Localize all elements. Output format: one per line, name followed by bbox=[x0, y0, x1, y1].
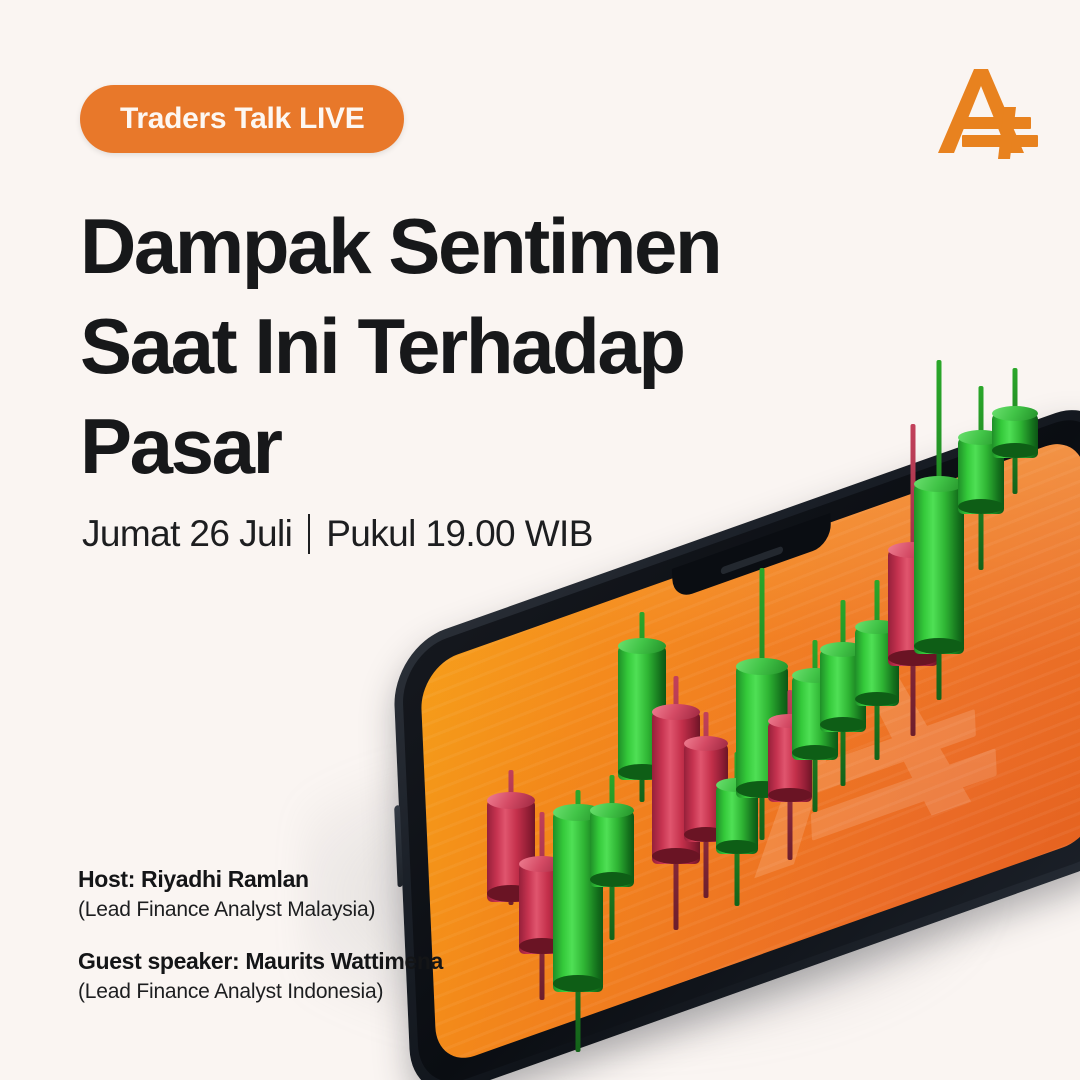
candle-cap bbox=[553, 804, 603, 821]
headline-line-2: Saat Ini Terhadap bbox=[80, 296, 800, 396]
candle-cap bbox=[792, 668, 838, 683]
candle-foot bbox=[716, 840, 758, 854]
live-badge[interactable]: Traders Talk LIVE bbox=[80, 85, 404, 153]
candle-foot bbox=[820, 717, 866, 732]
candle-wick bbox=[979, 386, 984, 570]
candle-wick bbox=[640, 612, 645, 802]
candle-cap bbox=[992, 406, 1038, 421]
candle-cap bbox=[888, 542, 938, 558]
event-date: Jumat 26 Juli bbox=[82, 513, 292, 555]
candle-foot bbox=[684, 827, 728, 842]
page-title: Dampak Sentimen Saat Ini Terhadap Pasar bbox=[80, 196, 800, 496]
candle-foot bbox=[768, 788, 812, 802]
candle-wick bbox=[704, 712, 709, 898]
candle-body bbox=[684, 744, 728, 842]
candle-body bbox=[888, 550, 938, 666]
headline-line-3: Pasar bbox=[80, 396, 800, 496]
candle-cap bbox=[736, 658, 788, 675]
candle-body bbox=[992, 414, 1038, 458]
candle-body bbox=[958, 438, 1004, 514]
candle-5 bbox=[618, 612, 666, 802]
candle-cap bbox=[652, 704, 700, 720]
candle-cap bbox=[855, 620, 899, 634]
candle-cap bbox=[684, 736, 728, 751]
candle-cap bbox=[618, 638, 666, 654]
candle-foot bbox=[914, 638, 964, 654]
candle-wick bbox=[875, 580, 880, 760]
speaker-credits: Host: Riyadhi Ramlan (Lead Finance Analy… bbox=[78, 866, 443, 1030]
candle-9 bbox=[736, 568, 788, 840]
candle-body bbox=[914, 484, 964, 654]
candle-13 bbox=[855, 580, 899, 760]
credit-guest: Guest speaker: Maurits Wattimena (Lead F… bbox=[78, 948, 443, 1004]
credit-host: Host: Riyadhi Ramlan (Lead Finance Analy… bbox=[78, 866, 443, 922]
candle-cap bbox=[590, 803, 634, 818]
candle-wick bbox=[841, 600, 846, 786]
candle-6 bbox=[652, 676, 700, 930]
candle-foot bbox=[553, 975, 603, 992]
candle-body bbox=[820, 650, 866, 732]
candle-wick bbox=[674, 676, 679, 930]
candle-wick bbox=[735, 752, 740, 906]
candle-foot bbox=[487, 885, 535, 902]
phone-notch bbox=[672, 513, 832, 600]
candle-body bbox=[792, 676, 838, 760]
candle-foot bbox=[590, 872, 634, 887]
poster-canvas: Traders Talk LIVE Dampak Sentimen Saat I… bbox=[0, 0, 1080, 1080]
candle-body bbox=[736, 666, 788, 798]
candle-1 bbox=[487, 770, 535, 905]
candle-17 bbox=[992, 368, 1038, 494]
candle-wick bbox=[788, 690, 793, 860]
phone-speaker bbox=[721, 546, 784, 575]
candle-wick bbox=[576, 790, 581, 1052]
candle-2 bbox=[519, 812, 565, 1000]
candle-3 bbox=[553, 790, 603, 1052]
candle-foot bbox=[888, 650, 938, 666]
candle-wick bbox=[937, 360, 942, 700]
event-time: Pukul 19.00 WIB bbox=[326, 513, 593, 555]
phone-bezel bbox=[401, 407, 1080, 1080]
candle-8 bbox=[716, 752, 758, 906]
candle-body bbox=[519, 864, 565, 954]
candle-wick bbox=[813, 640, 818, 812]
candle-body bbox=[652, 712, 700, 864]
candle-foot bbox=[736, 781, 788, 798]
candle-body bbox=[590, 811, 634, 887]
candle-body bbox=[553, 812, 603, 992]
credit-host-role: (Lead Finance Analyst Malaysia) bbox=[78, 898, 443, 922]
candle-16 bbox=[958, 386, 1004, 570]
candle-cap bbox=[487, 792, 535, 809]
smartphone-device bbox=[392, 394, 1080, 1080]
candle-foot bbox=[652, 848, 700, 864]
candle-14 bbox=[888, 424, 938, 736]
event-datetime: Jumat 26 Juli Pukul 19.00 WIB bbox=[82, 513, 593, 555]
candle-cap bbox=[768, 714, 812, 728]
candle-cap bbox=[958, 430, 1004, 445]
candle-15 bbox=[914, 360, 964, 700]
datetime-separator bbox=[308, 514, 310, 554]
candle-body bbox=[768, 722, 812, 802]
candle-cap bbox=[716, 778, 758, 792]
candle-foot bbox=[792, 745, 838, 760]
candle-body bbox=[716, 786, 758, 854]
credit-guest-role: (Lead Finance Analyst Indonesia) bbox=[78, 980, 443, 1004]
headline-line-1: Dampak Sentimen bbox=[80, 196, 800, 296]
candle-foot bbox=[992, 443, 1038, 458]
screen-watermark-a-icon bbox=[724, 562, 1018, 923]
candle-foot bbox=[519, 938, 565, 954]
candle-wick bbox=[610, 775, 615, 940]
candle-foot bbox=[958, 499, 1004, 514]
candle-4 bbox=[590, 775, 634, 940]
live-badge-label: Traders Talk LIVE bbox=[120, 102, 364, 136]
candle-wick bbox=[911, 424, 916, 736]
credit-host-name: Host: Riyadhi Ramlan bbox=[78, 866, 443, 893]
candle-cap bbox=[519, 856, 565, 872]
candle-7 bbox=[684, 712, 728, 898]
candle-10 bbox=[768, 690, 812, 860]
brand-logo-a-icon bbox=[928, 55, 1040, 167]
candle-cap bbox=[914, 476, 964, 492]
candle-12 bbox=[820, 600, 866, 786]
candle-11 bbox=[792, 640, 838, 812]
candle-body bbox=[618, 646, 666, 780]
candle-wick bbox=[509, 770, 514, 905]
candle-body bbox=[487, 800, 535, 902]
candle-body bbox=[855, 628, 899, 706]
candle-wick bbox=[1013, 368, 1018, 494]
candle-foot bbox=[618, 764, 666, 780]
candle-cap bbox=[820, 642, 866, 657]
candle-foot bbox=[855, 692, 899, 706]
candle-wick bbox=[540, 812, 545, 1000]
candle-wick bbox=[760, 568, 765, 840]
credit-guest-name: Guest speaker: Maurits Wattimena bbox=[78, 948, 443, 975]
